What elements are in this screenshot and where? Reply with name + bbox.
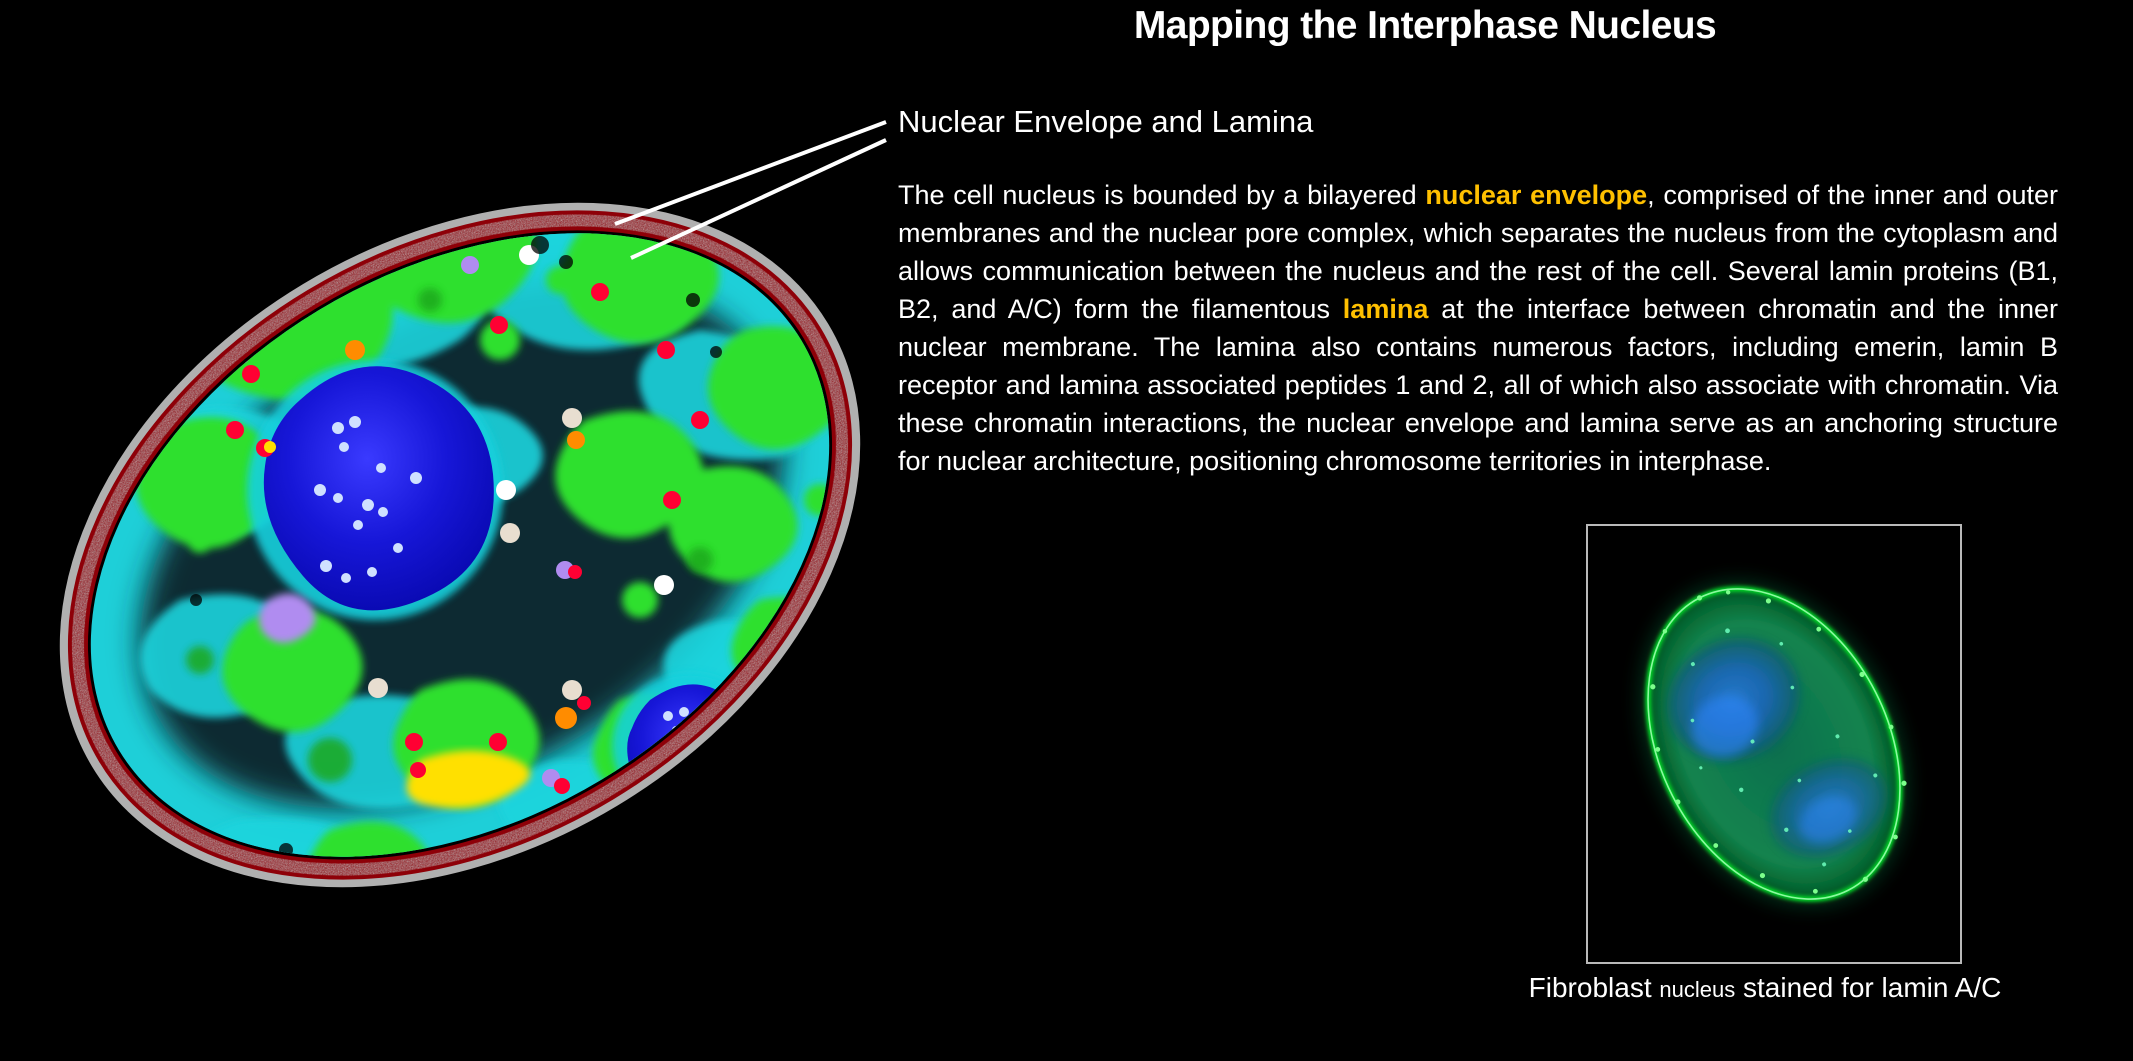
page-title: Mapping the Interphase Nucleus bbox=[900, 4, 1950, 48]
micrograph-caption: Fibroblast nucleus stained for lamin A/C bbox=[1400, 972, 2130, 1004]
nucleus-illustration bbox=[0, 0, 920, 1056]
caption-part-2: stained for lamin A/C bbox=[1735, 972, 2001, 1003]
slide-canvas: Mapping the Interphase Nucleus Nuclear E… bbox=[0, 0, 2133, 1056]
body-text-part-1: The cell nucleus is bounded by a bilayer… bbox=[898, 180, 1425, 210]
accent-term-lamina: lamina bbox=[1343, 294, 1429, 324]
accent-term-nuclear-envelope: nuclear envelope bbox=[1425, 180, 1647, 210]
section-heading: Nuclear Envelope and Lamina bbox=[898, 104, 1313, 140]
micrograph-panel bbox=[1586, 524, 1962, 964]
caption-part-1: Fibroblast bbox=[1529, 972, 1660, 1003]
caption-small-word: nucleus bbox=[1659, 977, 1735, 1002]
body-paragraph: The cell nucleus is bounded by a bilayer… bbox=[898, 176, 2058, 480]
nucleolus-large bbox=[247, 360, 503, 620]
